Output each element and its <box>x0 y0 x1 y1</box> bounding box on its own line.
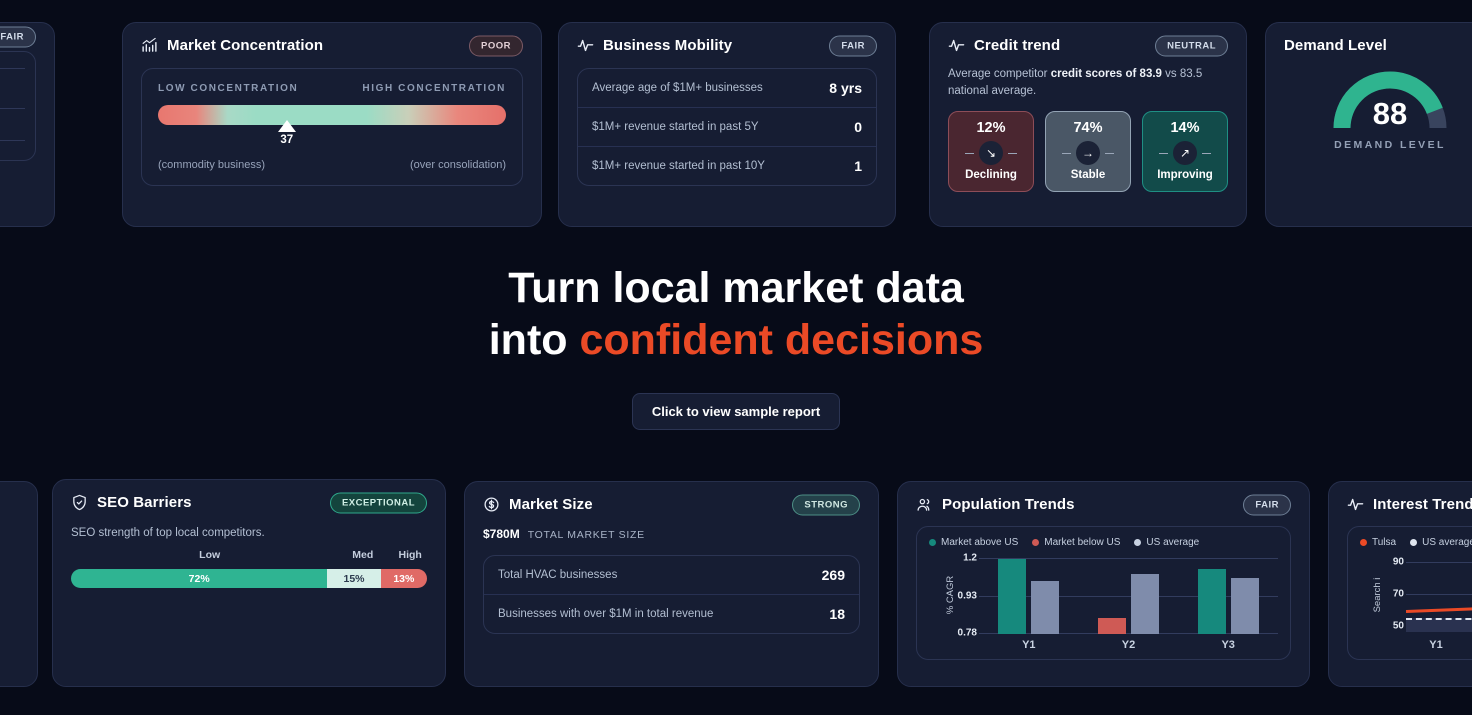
credit-tile-stable[interactable]: 74% → Stable <box>1045 111 1131 192</box>
card-header: Credit trend NEUTRAL <box>948 37 1228 54</box>
legend-item: Market below US <box>1032 537 1120 548</box>
card-population-trends[interactable]: Population Trends FAIR Market above US M… <box>897 481 1310 687</box>
view-sample-report-button[interactable]: Click to view sample report <box>632 393 840 430</box>
hero-section: Turn local market data into confident de… <box>0 262 1472 430</box>
dashboard-stage: FAIR Y3 Market Concentration POOR <box>0 0 1472 715</box>
dash <box>1062 153 1071 154</box>
bar-us-average <box>1031 581 1059 634</box>
arrow-down-right-icon: ↘ <box>979 141 1003 165</box>
pulse-icon <box>577 37 594 54</box>
metric-label: Total HVAC businesses <box>498 569 617 581</box>
dash <box>1105 153 1114 154</box>
legend-swatch <box>929 539 936 546</box>
metric-label: Businesses with over $1M in total revenu… <box>498 608 713 620</box>
credit-description: Average competitor credit scores of 83.9… <box>948 66 1228 99</box>
card-title: Market Size <box>509 496 593 513</box>
x-axis: Y1 Y2 Y3 <box>929 639 1278 651</box>
bar-group-y2 <box>1079 574 1179 634</box>
status-badge: POOR <box>469 35 523 56</box>
seo-header-med: Med <box>352 549 373 561</box>
marker-value: 37 <box>267 134 307 146</box>
card-header: Interest Trends <box>1347 496 1472 513</box>
legend-item: Tulsa <box>1360 537 1396 548</box>
status-badge: FAIR <box>0 27 36 48</box>
credit-tile-improving[interactable]: 14% ↗ Improving <box>1142 111 1228 192</box>
legend-label: Market above US <box>941 537 1018 548</box>
metric-label: $1M+ revenue started in past 5Y <box>592 121 759 133</box>
seo-header-low: Low <box>199 549 220 561</box>
metric-value: 0 <box>854 119 862 135</box>
plot-area: Search i 90 70 50 <box>1360 556 1472 634</box>
people-icon <box>916 496 933 513</box>
card-seo-barriers[interactable]: SEO Barriers EXCEPTIONAL SEO strength of… <box>52 479 446 687</box>
peek-chart: Y3 <box>0 51 36 161</box>
status-badge: FAIR <box>1243 494 1291 515</box>
seo-stacked-bar: 72% 15% 13% <box>71 569 427 588</box>
concentration-marker[interactable]: 37 <box>158 125 506 147</box>
legend-item: Market above US <box>929 537 1018 548</box>
gridline <box>0 140 25 141</box>
list-item: $1M+ revenue started in past 5Y 0 <box>578 108 876 147</box>
status-badge: STRONG <box>792 494 860 515</box>
status-badge: FAIR <box>829 35 877 56</box>
scale-labels: LOW CONCENTRATION HIGH CONCENTRATION <box>158 83 506 94</box>
card-header: Population Trends FAIR <box>916 496 1291 513</box>
card-header: SEO Barriers EXCEPTIONAL <box>71 494 427 511</box>
dash <box>1008 153 1017 154</box>
list-item: Total HVAC businesses 269 <box>484 556 859 595</box>
x-tick-label: Y1 <box>979 639 1079 651</box>
metric-list: Average age of $1M+ businesses 8 yrs $1M… <box>577 68 877 186</box>
legend-label: US average <box>1146 537 1199 548</box>
metric-label: $1M+ revenue started in past 10Y <box>592 160 765 172</box>
legend-label: Market below US <box>1044 537 1120 548</box>
bar-market-below-us <box>1098 618 1126 634</box>
bar-us-average <box>1231 578 1259 634</box>
scale-label-high: HIGH CONCENTRATION <box>362 83 506 94</box>
pulse-icon <box>948 37 965 54</box>
hero-plain: into <box>489 316 580 364</box>
seo-segment-low: 72% <box>71 569 327 588</box>
seo-segment-med: 15% <box>327 569 380 588</box>
card-title: Interest Trends <box>1373 496 1472 513</box>
line-tulsa <box>1406 598 1472 612</box>
status-badge: EXCEPTIONAL <box>330 492 427 513</box>
legend-item: US average <box>1134 537 1199 548</box>
interest-chart: Tulsa US average Search i 90 70 50 <box>1347 526 1472 660</box>
scale-label-low: LOW CONCENTRATION <box>158 83 298 94</box>
arrow-up-right-icon: ↗ <box>1173 141 1197 165</box>
desc-bold: credit scores of 83.9 <box>1051 68 1162 80</box>
y-tick-label: 70 <box>1370 589 1404 600</box>
total-value: $780M <box>483 527 520 541</box>
seo-header-high: High <box>399 549 422 561</box>
demand-gauge-wrap: 88 DEMAND LEVEL <box>1284 68 1472 151</box>
bar-market-above-us <box>998 559 1026 634</box>
bar-us-average <box>1131 574 1159 634</box>
x-tick-label: Y3 <box>1178 639 1278 651</box>
hero-accent: confident decisions <box>579 316 983 364</box>
tile-label: Declining <box>953 169 1029 181</box>
metric-list: Total HVAC businesses 269 Businesses wit… <box>483 555 860 634</box>
desc-pre: Average competitor <box>948 68 1051 80</box>
y-tick-label: 0.78 <box>943 628 977 639</box>
metric-value: 18 <box>829 606 845 622</box>
x-tick-label: Y2 <box>1079 639 1179 651</box>
legend-swatch <box>1410 539 1417 546</box>
tile-percent: 14% <box>1147 120 1223 136</box>
y-tick-label: 0.93 <box>943 591 977 602</box>
x-axis: Y1 <box>1360 639 1472 651</box>
pulse-icon <box>1347 496 1364 513</box>
legend-label: US average <box>1422 537 1472 548</box>
legend-swatch <box>1360 539 1367 546</box>
bar-chart-trend-icon <box>141 37 158 54</box>
tile-percent: 12% <box>953 120 1029 136</box>
list-item: Average age of $1M+ businesses 8 yrs <box>578 69 876 108</box>
tile-arrow-row: ↗ <box>1147 141 1223 165</box>
dash <box>1202 153 1211 154</box>
dollar-circle-icon <box>483 496 500 513</box>
x-tick-label: Y1 <box>1406 639 1466 651</box>
tile-label: Improving <box>1147 169 1223 181</box>
y-tick-label: 1.2 <box>943 553 977 564</box>
total-caption: TOTAL MARKET SIZE <box>528 529 645 541</box>
tile-label: Stable <box>1050 169 1126 181</box>
card-header: Market Size STRONG <box>483 496 860 513</box>
bar-group-y3 <box>1178 569 1278 634</box>
y-tick-label: 50 <box>1370 621 1404 632</box>
card-title: Credit trend <box>974 37 1060 54</box>
card-title: Market Concentration <box>167 37 323 54</box>
card-demand-level[interactable]: Demand Level 88 DEMAND LEVEL <box>1265 22 1472 227</box>
credit-tile-declining[interactable]: 12% ↘ Declining <box>948 111 1034 192</box>
seo-segment-headers: Low Med High <box>71 549 427 565</box>
gridline <box>1406 562 1472 563</box>
card-title: Business Mobility <box>603 37 732 54</box>
metric-value: 8 yrs <box>829 80 862 96</box>
chart-legend: Market above US Market below US US avera… <box>929 537 1278 548</box>
gridline <box>0 108 25 109</box>
concentration-gradient-bar <box>158 105 506 125</box>
bar-group-container <box>979 556 1278 634</box>
list-item: Businesses with over $1M in total revenu… <box>484 595 859 633</box>
gridline <box>1406 594 1472 595</box>
bar-market-above-us <box>1198 569 1226 634</box>
legend-swatch <box>1134 539 1141 546</box>
card-credit-trend[interactable]: Credit trend NEUTRAL Average competitor … <box>929 22 1247 227</box>
hero-headline-2: into confident decisions <box>0 314 1472 366</box>
metric-value: 1 <box>854 158 862 174</box>
line-us-average <box>1406 618 1472 620</box>
hero-headline-1: Turn local market data <box>0 262 1472 314</box>
card-header: Market Concentration POOR <box>141 37 523 54</box>
tile-percent: 74% <box>1050 120 1126 136</box>
note-right: (over consolidation) <box>410 159 506 171</box>
scale-notes: (commodity business) (over consolidation… <box>158 159 506 171</box>
gridline <box>0 68 25 69</box>
bar-group-y1 <box>979 559 1079 634</box>
population-chart: Market above US Market below US US avera… <box>916 526 1291 660</box>
metric-label: Average age of $1M+ businesses <box>592 82 763 94</box>
note-left: (commodity business) <box>158 159 265 171</box>
series-band <box>1406 618 1472 632</box>
card-title: Demand Level <box>1284 37 1387 54</box>
list-item: $1M+ revenue started in past 10Y 1 <box>578 147 876 185</box>
marker-triangle-icon <box>278 120 296 132</box>
shield-check-icon <box>71 494 88 511</box>
card-title: SEO Barriers <box>97 494 192 511</box>
card-left-peek[interactable]: FAIR Y3 <box>0 22 55 227</box>
credit-tiles: 12% ↘ Declining 74% → Stable 14% <box>948 111 1228 192</box>
legend-label: Tulsa <box>1372 537 1396 548</box>
card-title: Population Trends <box>942 496 1075 513</box>
dash <box>965 153 974 154</box>
chart-legend: Tulsa US average <box>1360 537 1472 548</box>
dash <box>1159 153 1168 154</box>
demand-gauge: 88 <box>1330 68 1450 130</box>
card-bottom-left-peek[interactable] <box>0 481 38 687</box>
tile-arrow-row: ↘ <box>953 141 1029 165</box>
plot-area: % CAGR 1.2 0.93 0.78 <box>929 556 1278 634</box>
card-business-mobility[interactable]: Business Mobility FAIR Average age of $1… <box>558 22 896 227</box>
demand-value: 88 <box>1330 96 1450 132</box>
card-market-size[interactable]: Market Size STRONG $780MTOTAL MARKET SIZ… <box>464 481 879 687</box>
seo-segment-high: 13% <box>381 569 427 588</box>
card-interest-trends[interactable]: Interest Trends Tulsa US average Search … <box>1328 481 1472 687</box>
legend-swatch <box>1032 539 1039 546</box>
card-header: Business Mobility FAIR <box>577 37 877 54</box>
metric-value: 269 <box>822 567 845 583</box>
status-badge: NEUTRAL <box>1155 35 1228 56</box>
arrow-right-icon: → <box>1076 141 1100 165</box>
total-market-size: $780MTOTAL MARKET SIZE <box>483 527 860 541</box>
card-header: Demand Level <box>1284 37 1472 54</box>
y-tick-label: 90 <box>1370 557 1404 568</box>
card-market-concentration[interactable]: Market Concentration POOR LOW CONCENTRAT… <box>122 22 542 227</box>
seo-description: SEO strength of top local competitors. <box>71 527 427 539</box>
legend-item: US average <box>1410 537 1472 548</box>
demand-caption: DEMAND LEVEL <box>1334 139 1446 151</box>
tile-arrow-row: → <box>1050 141 1126 165</box>
concentration-scale: LOW CONCENTRATION HIGH CONCENTRATION 37 … <box>141 68 523 186</box>
